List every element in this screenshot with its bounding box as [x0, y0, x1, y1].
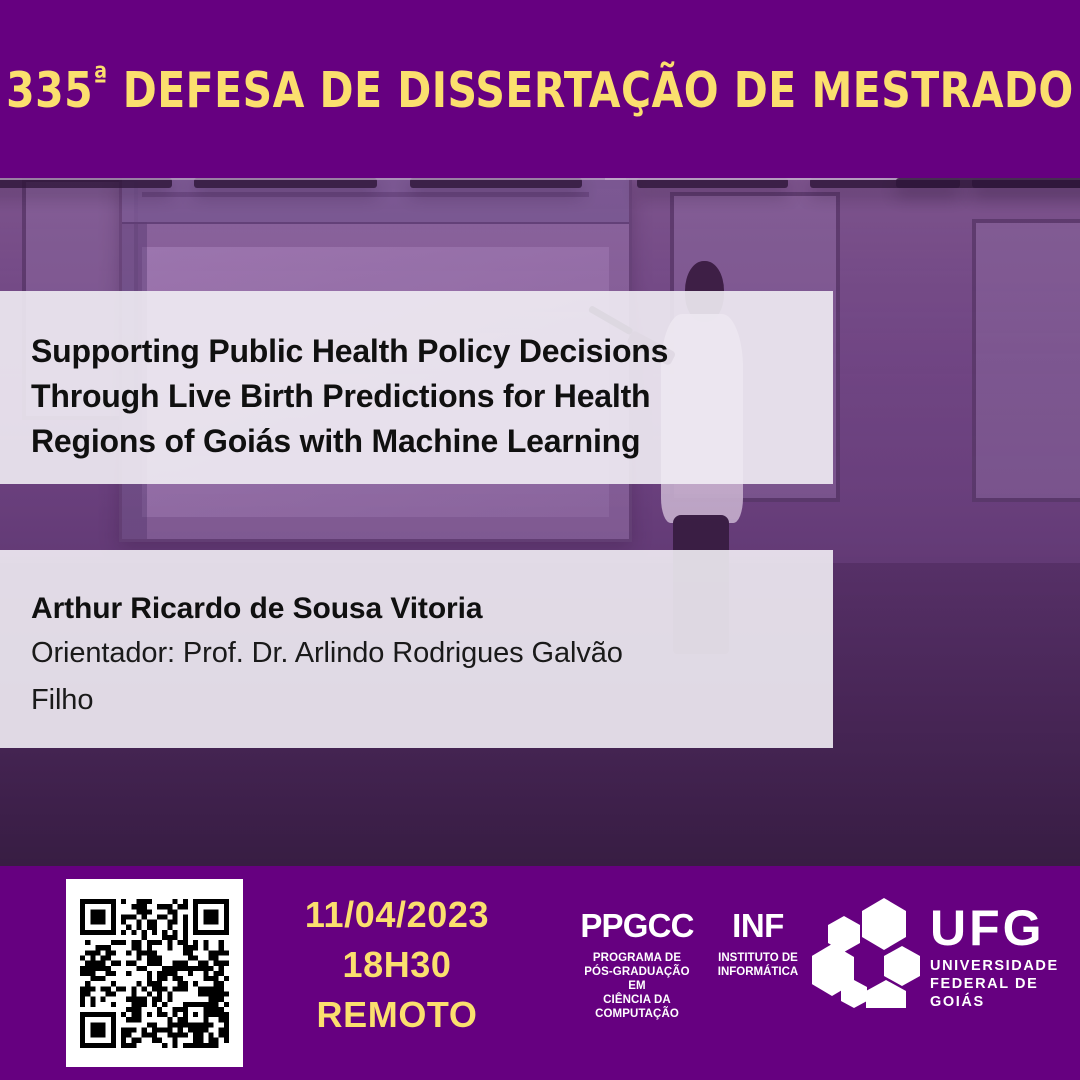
author-panel: Arthur Ricardo de Sousa Vitoria Orientad… — [0, 550, 833, 748]
inf-subtitle: INSTITUTO DE INFORMÁTICA — [715, 951, 801, 979]
background-photo — [0, 178, 1080, 866]
ordinal-indicator: ª — [93, 61, 108, 96]
page-title: 335ª DEFESA DE DISSERTAÇÃO DE MESTRADO — [6, 64, 1074, 115]
poster-footer: 11/04/2023 18H30 REMOTO PPGCC PROGRAMA D… — [0, 866, 1080, 1080]
event-mode: REMOTO — [268, 990, 526, 1040]
thesis-title-line-1: Supporting Public Health Policy Decision… — [31, 329, 793, 374]
page-title-rest: DEFESA DE DISSERTAÇÃO DE MESTRADO — [108, 61, 1074, 118]
event-details: 11/04/2023 18H30 REMOTO — [268, 890, 526, 1040]
ufg-subtitle: UNIVERSIDADE FEDERAL DE GOIÁS — [930, 957, 1059, 1011]
defense-number: 335 — [6, 61, 93, 118]
inf-wordmark: INF — [715, 909, 801, 943]
ppgcc-wordmark: PPGCC — [576, 909, 698, 943]
thesis-title-line-3: Regions of Goiás with Machine Learning — [31, 419, 793, 464]
inf-logo: INF INSTITUTO DE INFORMÁTICA — [715, 909, 801, 979]
qr-code-image — [80, 899, 229, 1048]
ufg-hexagon-icon — [812, 896, 924, 1008]
ppgcc-subtitle: PROGRAMA DE PÓS-GRADUAÇÃO EM CIÊNCIA DA … — [576, 951, 698, 1021]
ppgcc-logo: PPGCC PROGRAMA DE PÓS-GRADUAÇÃO EM CIÊNC… — [576, 909, 698, 1021]
advisor-line-2: Filho — [31, 677, 793, 724]
ufg-wordmark: UFG — [930, 901, 1059, 955]
qr-code[interactable] — [66, 879, 243, 1067]
photo-purple-tint — [0, 178, 1080, 866]
ppgcc-subtitle-line-3: CIÊNCIA DA COMPUTAÇÃO — [576, 993, 698, 1021]
ufg-text-block: UFG UNIVERSIDADE FEDERAL DE GOIÁS — [930, 901, 1059, 1011]
advisor-line-1: Orientador: Prof. Dr. Arlindo Rodrigues … — [31, 630, 793, 677]
ufg-logo: UFG UNIVERSIDADE FEDERAL DE GOIÁS — [812, 896, 1040, 1011]
ppgcc-subtitle-line-1: PROGRAMA DE — [576, 951, 698, 965]
ufg-subtitle-line-2: FEDERAL DE GOIÁS — [930, 975, 1059, 1011]
inf-subtitle-line-1: INSTITUTO DE — [715, 951, 801, 965]
student-name: Arthur Ricardo de Sousa Vitoria — [31, 588, 793, 630]
thesis-title-line-2: Through Live Birth Predictions for Healt… — [31, 374, 793, 419]
event-time: 18H30 — [268, 940, 526, 990]
poster-header: 335ª DEFESA DE DISSERTAÇÃO DE MESTRADO — [0, 0, 1080, 178]
event-date: 11/04/2023 — [268, 890, 526, 940]
ufg-subtitle-line-1: UNIVERSIDADE — [930, 957, 1059, 975]
ppgcc-subtitle-line-2: PÓS-GRADUAÇÃO EM — [576, 965, 698, 993]
inf-subtitle-line-2: INFORMÁTICA — [715, 965, 801, 979]
thesis-title-panel: Supporting Public Health Policy Decision… — [0, 291, 833, 484]
poster-root: 335ª DEFESA DE DISSERTAÇÃO DE MESTRADO — [0, 0, 1080, 1080]
